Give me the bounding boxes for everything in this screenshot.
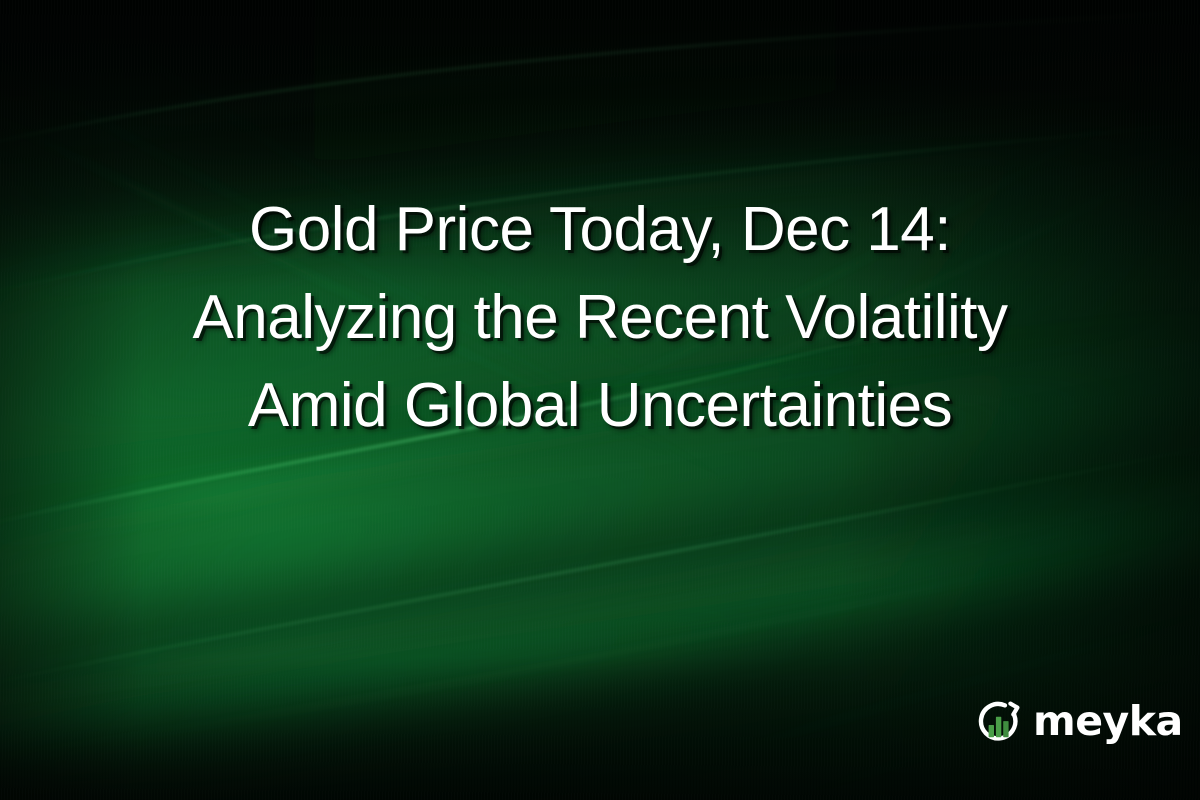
meyka-logo[interactable]: meyka — [972, 696, 1183, 750]
article-banner: Gold Price Today, Dec 14: Analyzing the … — [0, 0, 1200, 800]
circular-arrow-bar-chart-icon — [972, 696, 1026, 750]
headline-line-3: Amid Global Uncertainties — [0, 362, 1200, 450]
banner-headline: Gold Price Today, Dec 14: Analyzing the … — [0, 186, 1200, 450]
headline-line-1: Gold Price Today, Dec 14: — [0, 186, 1200, 274]
brand-wordmark: meyka — [1033, 701, 1183, 745]
headline-line-2: Analyzing the Recent Volatility — [0, 274, 1200, 362]
